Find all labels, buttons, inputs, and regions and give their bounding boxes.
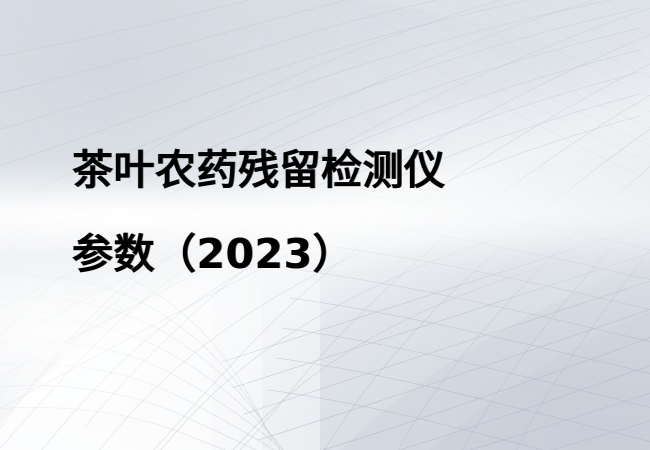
title-line-2: 参数（2023） <box>72 212 446 296</box>
title-line-1: 茶叶农药残留检测仪 <box>72 128 446 212</box>
banner-title: 茶叶农药残留检测仪 参数（2023） <box>72 128 446 296</box>
title-banner: 茶叶农药残留检测仪 参数（2023） <box>0 0 650 450</box>
